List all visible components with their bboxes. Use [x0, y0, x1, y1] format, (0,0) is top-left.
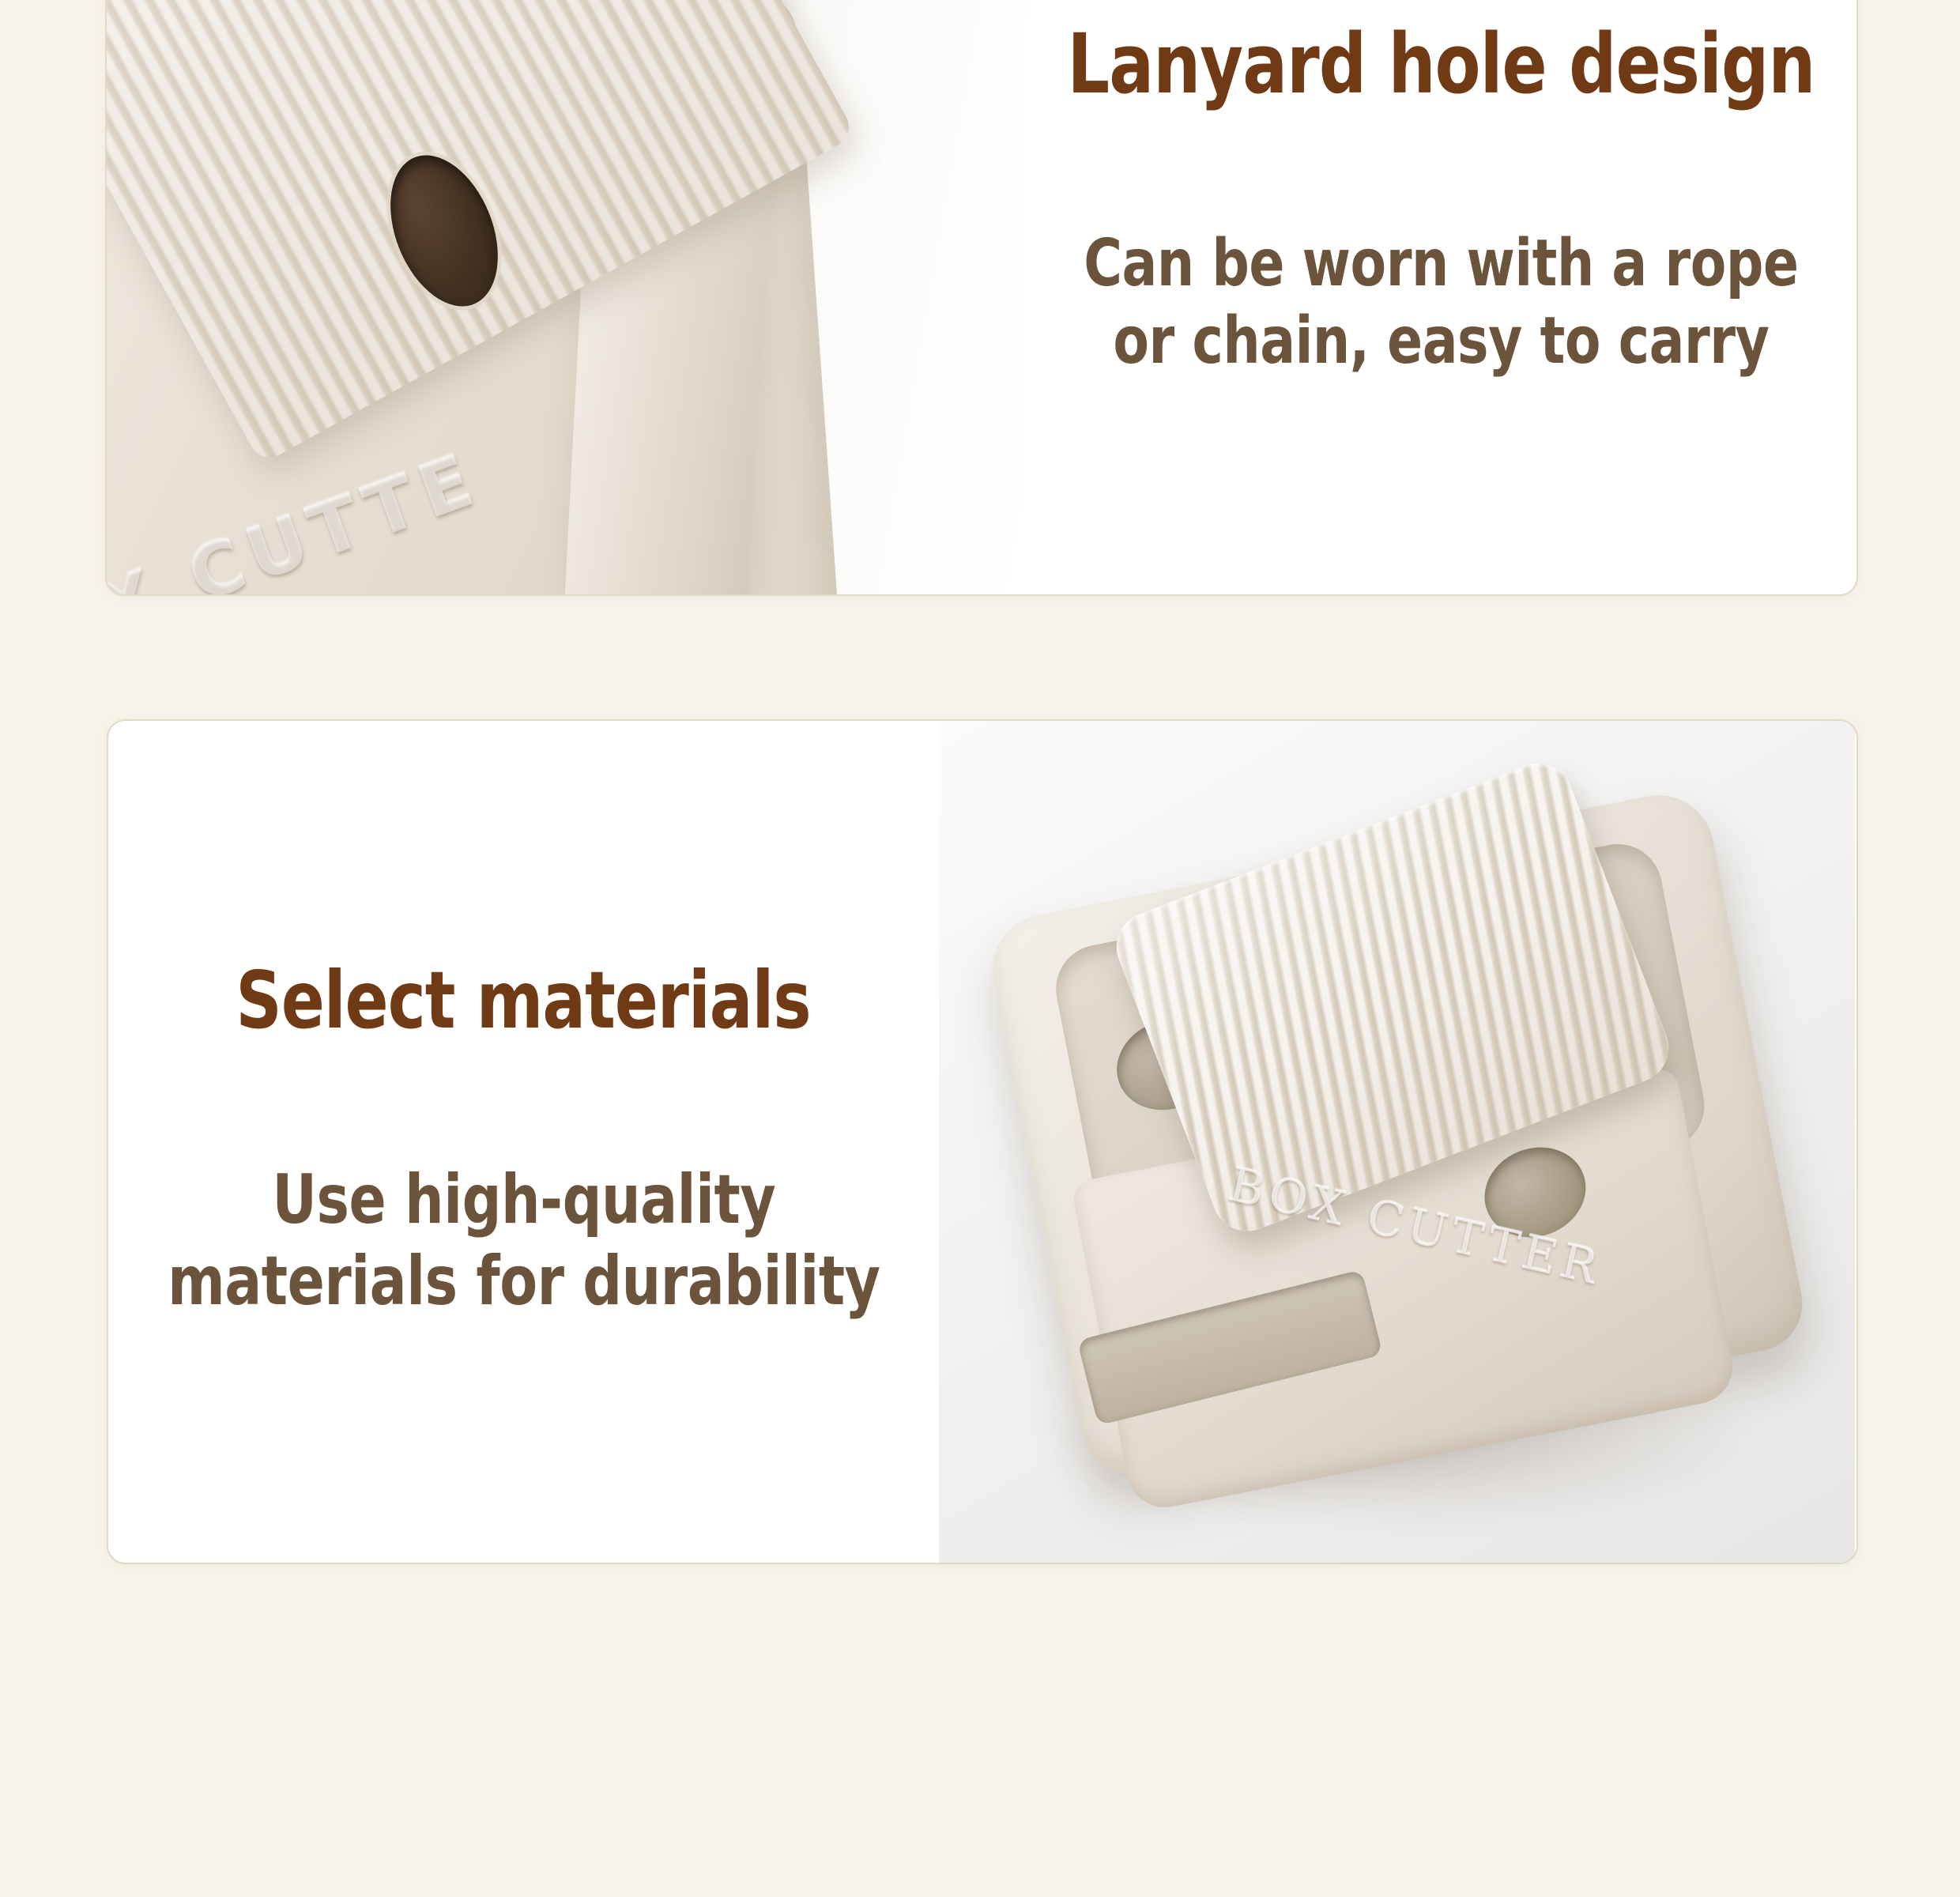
product-photo-box-cutter: BOX CUTTER — [939, 721, 1855, 1563]
feature-subline-line-2: materials for durability — [168, 1241, 880, 1322]
feature-subline-line-1: Use high-quality — [168, 1160, 880, 1241]
feature-text-pane-lanyard: Lanyard hole design Can be worn with a r… — [1025, 0, 1856, 594]
feature-card-lanyard-hole-design: X CUTTE Lanyard hole design Can be worn … — [105, 0, 1858, 596]
feature-subline-line-2: or chain, easy to carry — [1084, 303, 1798, 380]
feature-headline: Select materials — [236, 959, 811, 1042]
feature-card-select-materials: Select materials Use high-quality materi… — [107, 719, 1858, 1564]
product-feature-page: X CUTTE Lanyard hole design Can be worn … — [0, 0, 1960, 1897]
feature-text-pane-materials: Select materials Use high-quality materi… — [108, 721, 939, 1563]
feature-headline: Lanyard hole design — [1067, 21, 1815, 107]
feature-subline-line-1: Can be worn with a rope — [1084, 225, 1798, 303]
box-cutter-product: BOX CUTTER — [973, 733, 1821, 1533]
feature-subline: Can be worn with a rope or chain, easy t… — [1084, 225, 1798, 381]
product-photo-lanyard-closeup: X CUTTE — [107, 0, 1025, 594]
feature-subline: Use high-quality materials for durabilit… — [168, 1160, 880, 1322]
